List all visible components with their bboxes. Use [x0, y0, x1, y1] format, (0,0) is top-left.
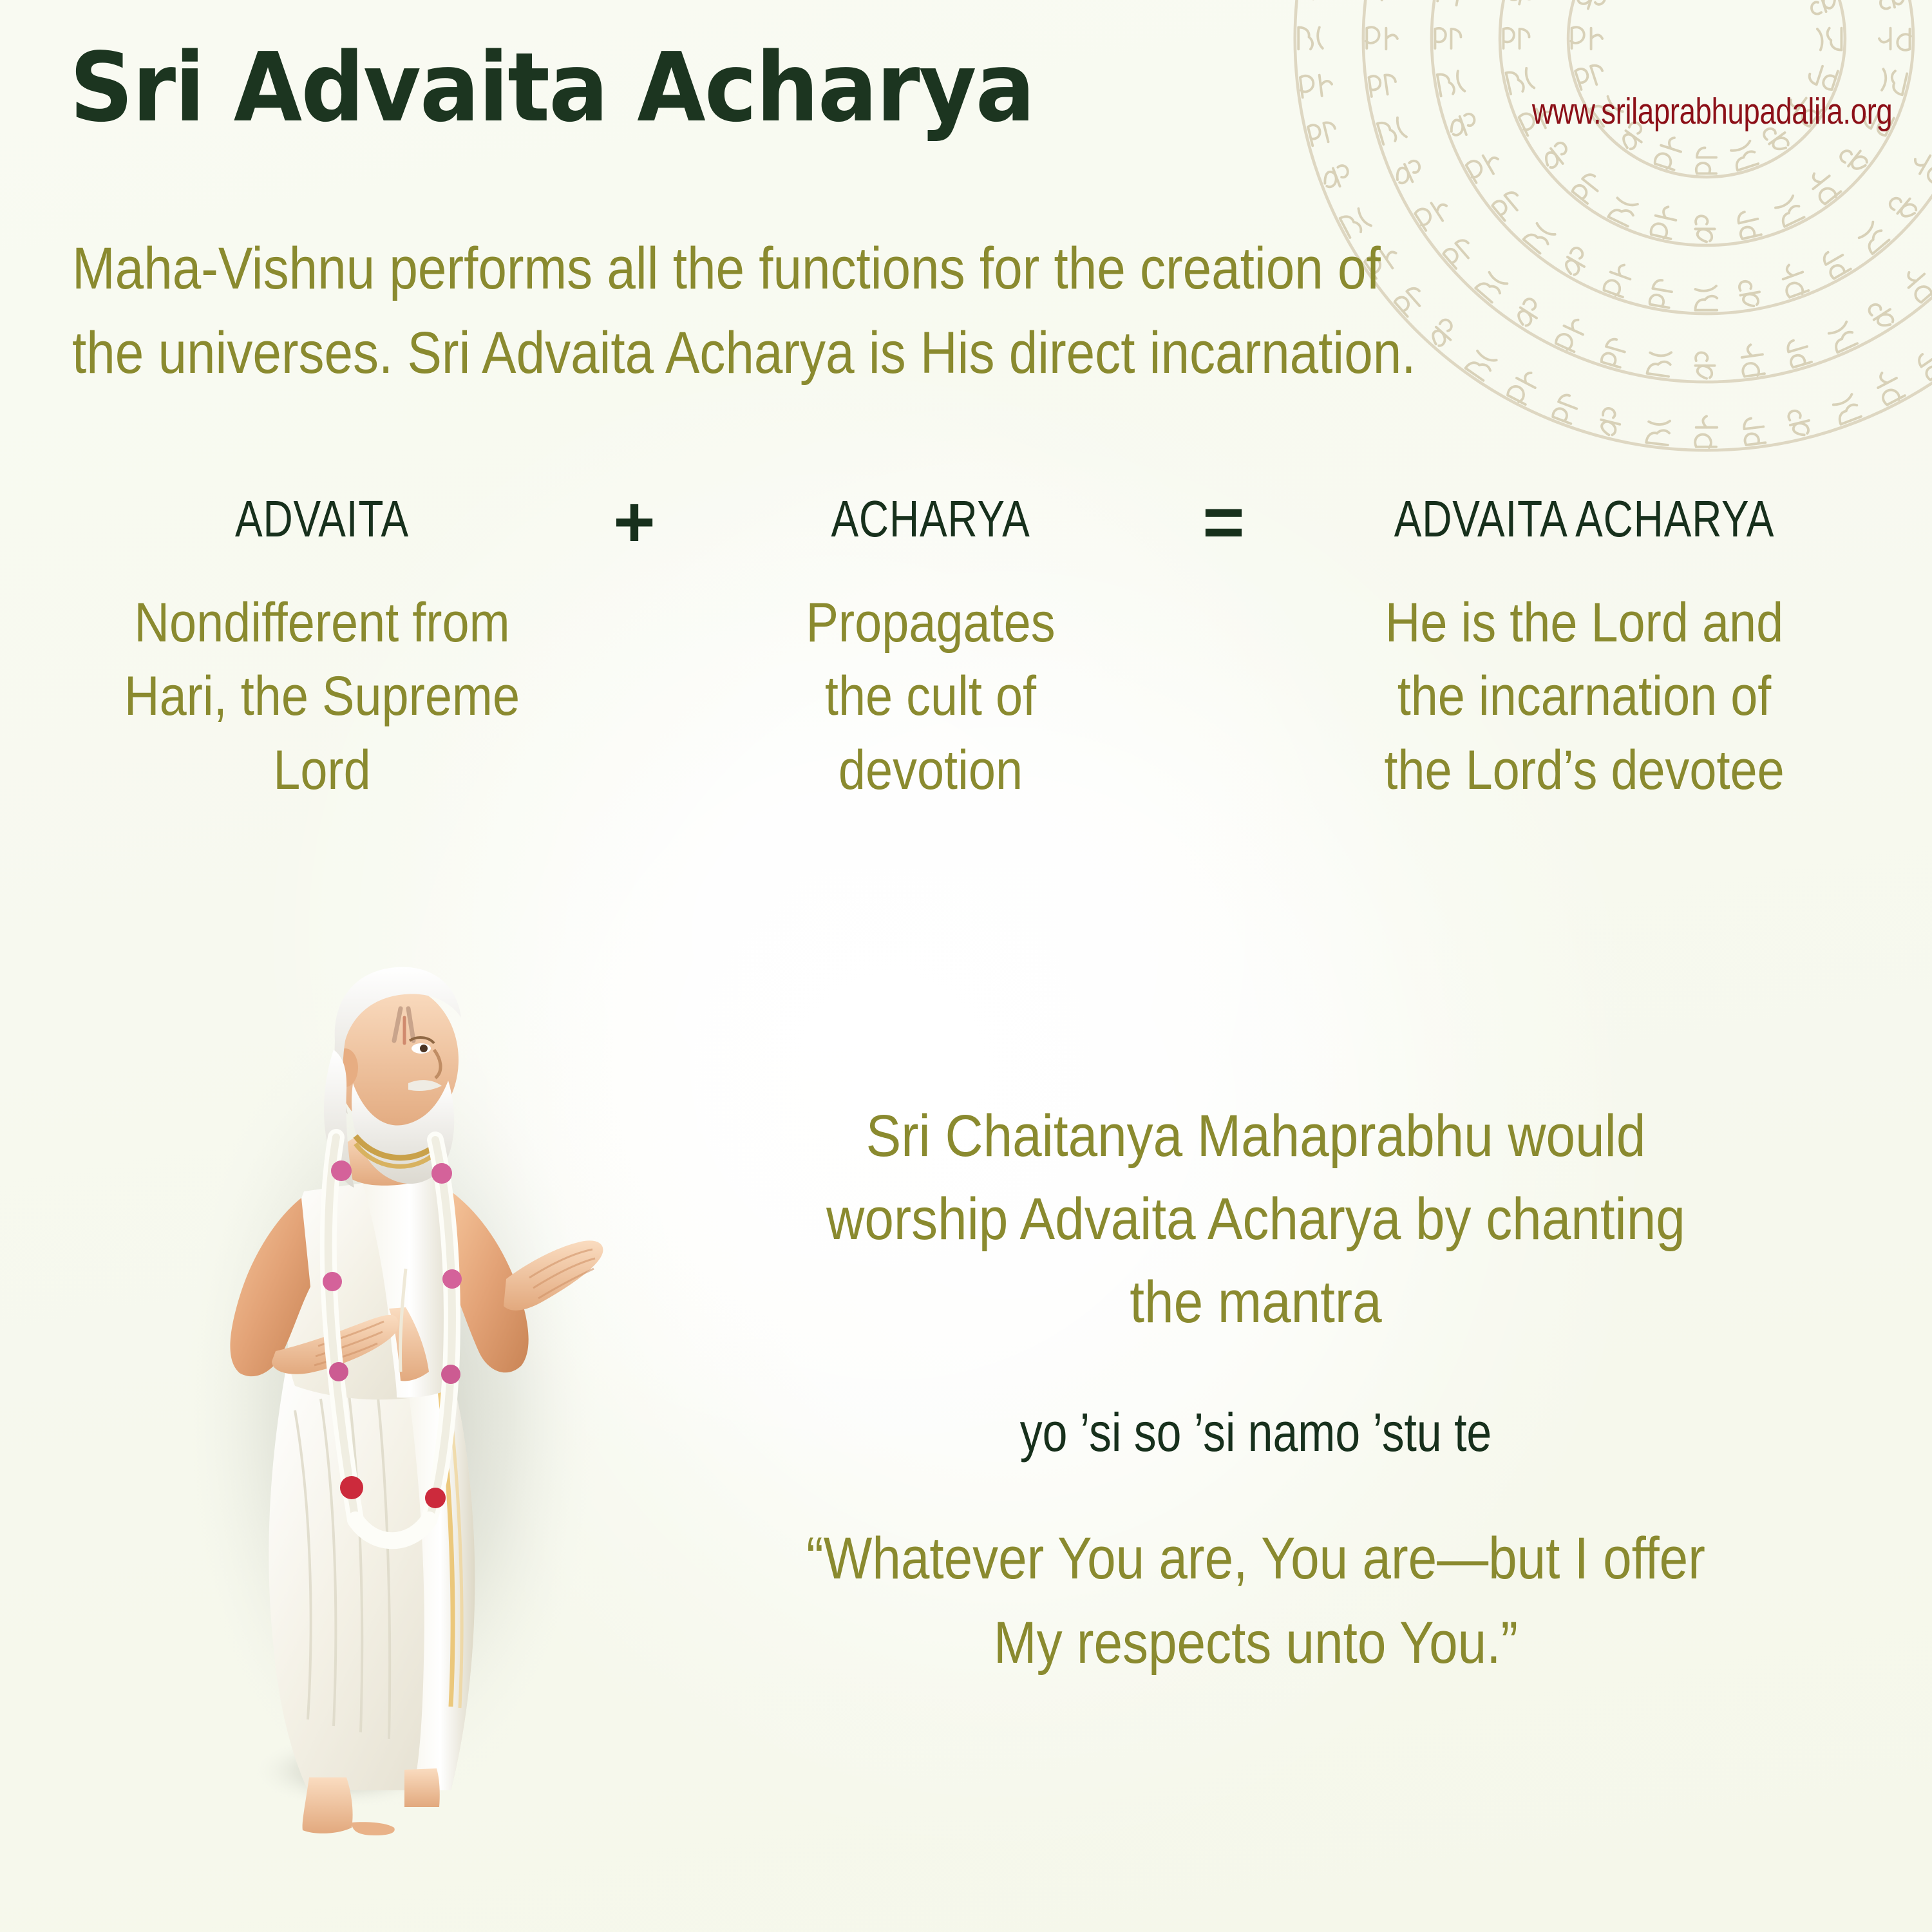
mantra-text: yo ’si so ’si namo ’stu te	[775, 1401, 1737, 1464]
equation-term-heading: ADVAITA ACHARYA	[1327, 489, 1842, 549]
quote-line-2: My respects unto You.”	[752, 1601, 1760, 1685]
worship-line-2: worship Advaita Acharya by chanting	[740, 1178, 1772, 1261]
equation-term-heading: ACHARYA	[727, 489, 1134, 549]
plus-operator: +	[599, 480, 670, 563]
advaita-acharya-figure-illustration	[148, 921, 625, 1835]
definition-line-1: He is the Lord and	[1301, 586, 1868, 659]
page-title: Sri Advaita Acharya	[70, 40, 1034, 135]
mantra-translation-quote: “Whatever You are, You are—but I offer M…	[752, 1517, 1760, 1685]
definition-line-1: Nondifferent from	[118, 586, 526, 659]
worship-statement: Sri Chaitanya Mahaprabhu would worship A…	[740, 1095, 1772, 1343]
name-equation: ADVAITA Nondifferent from Hari, the Supr…	[0, 489, 1932, 902]
definition-line-1: Propagates	[706, 586, 1154, 659]
equation-term-acharya: ACHARYA Propagates the cult of devotion	[676, 489, 1185, 807]
website-url[interactable]: www.srilaprabhupadalila.org	[1531, 90, 1892, 133]
definition-line-2: the incarnation of	[1301, 659, 1868, 733]
lower-text-block: Sri Chaitanya Mahaprabhu would worship A…	[676, 1095, 1835, 1685]
intro-line-1: Maha-Vishnu performs all the functions f…	[72, 227, 1417, 311]
equation-term-definition: Propagates the cult of devotion	[706, 586, 1154, 807]
worship-line-3: the mantra	[740, 1261, 1772, 1344]
definition-line-2: the cult of	[706, 659, 1154, 733]
definition-line-2: Hari, the Supreme	[118, 659, 526, 733]
intro-paragraph: Maha-Vishnu performs all the functions f…	[72, 227, 1417, 395]
definition-line-3: the Lord’s devotee	[1301, 734, 1868, 807]
poster-canvas: Sri Advaita Acharya www.srilaprabhupadal…	[0, 0, 1932, 1932]
worship-line-1: Sri Chaitanya Mahaprabhu would	[740, 1095, 1772, 1178]
intro-line-2: the universes. Sri Advaita Acharya is Hi…	[72, 311, 1417, 395]
definition-line-3: devotion	[706, 734, 1154, 807]
equals-operator: =	[1185, 480, 1262, 563]
equation-term-heading: ADVAITA	[137, 489, 507, 549]
quote-line-1: “Whatever You are, You are—but I offer	[752, 1517, 1760, 1601]
equation-term-definition: Nondifferent from Hari, the Supreme Lord	[118, 586, 526, 807]
equation-term-definition: He is the Lord and the incarnation of th…	[1301, 586, 1868, 807]
definition-line-3: Lord	[118, 734, 526, 807]
equation-term-advaita: ADVAITA Nondifferent from Hari, the Supr…	[90, 489, 554, 807]
equation-term-advaita-acharya: ADVAITA ACHARYA He is the Lord and the i…	[1262, 489, 1906, 807]
